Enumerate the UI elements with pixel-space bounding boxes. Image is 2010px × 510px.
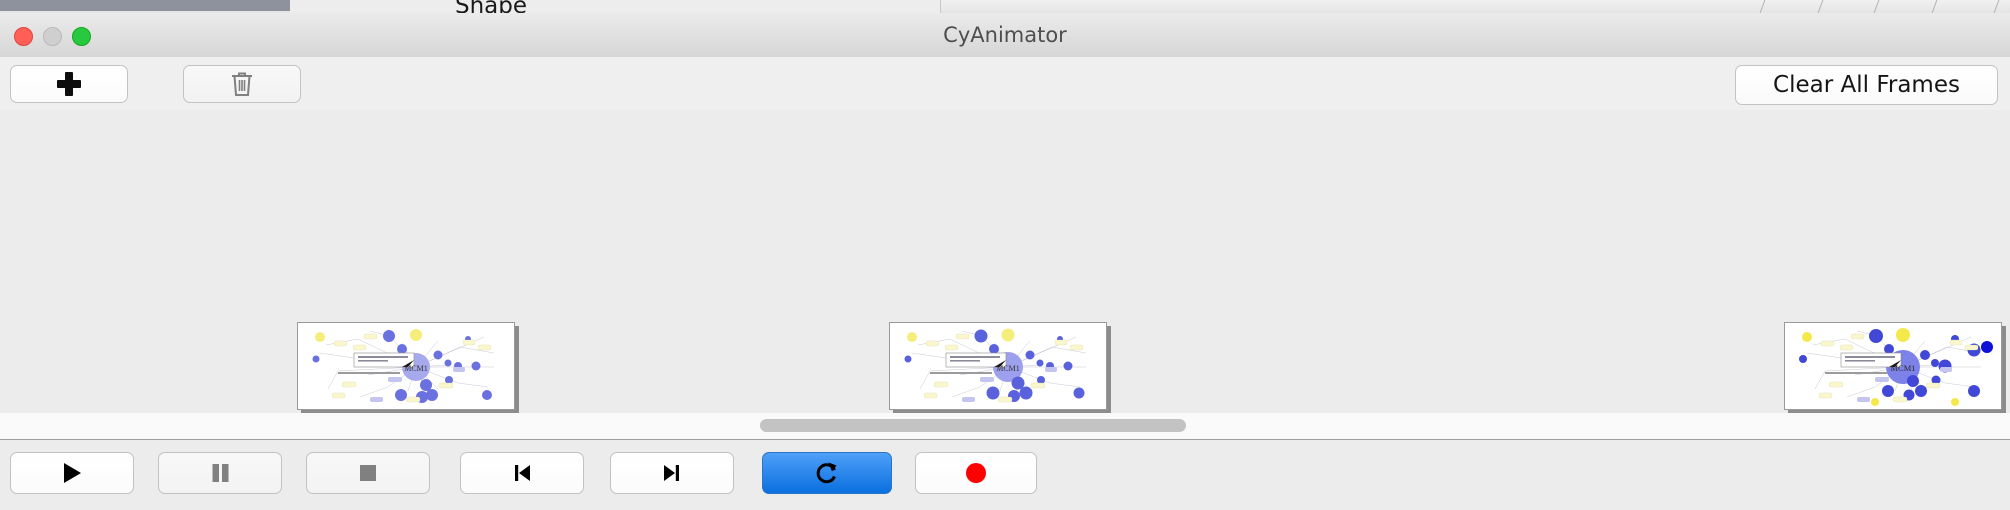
player-bar: Animation Speed: <box>0 440 2010 510</box>
background-tick <box>1874 0 1880 13</box>
frame-thumbnail-3[interactable]: MCM1 <box>1784 322 2002 410</box>
background-tick <box>1932 0 1938 13</box>
background-window-strip: Shape <box>0 0 2010 14</box>
thumbnail-center-label: MCM1 <box>996 364 1020 373</box>
frame-thumbnail-2[interactable]: MCM1 <box>889 322 1107 410</box>
scrollbar-thumb[interactable] <box>760 419 1186 432</box>
timeline-scrollbar[interactable] <box>0 413 2010 440</box>
play-button[interactable] <box>10 452 134 494</box>
timeline-panel[interactable]: MCM1 <box>0 110 2010 414</box>
loop-button[interactable] <box>762 452 892 494</box>
skip-to-end-button[interactable] <box>610 452 734 494</box>
frame-thumbnail-1[interactable]: MCM1 <box>297 322 515 410</box>
thumbnail-center-label: MCM1 <box>404 364 428 373</box>
background-cell <box>640 0 941 13</box>
background-tick <box>1818 0 1824 13</box>
network-graph-thumbnail: MCM1 <box>298 323 514 409</box>
background-tick <box>1760 0 1766 13</box>
network-graph-thumbnail: MCM1 <box>1785 323 2001 409</box>
skip-to-start-button[interactable] <box>460 452 584 494</box>
clear-all-frames-button[interactable]: Clear All Frames <box>1735 65 1998 105</box>
plus-icon <box>56 71 82 97</box>
record-button[interactable] <box>915 452 1037 494</box>
trash-icon <box>230 70 254 98</box>
background-tick <box>1994 0 2000 13</box>
record-icon <box>963 460 989 486</box>
background-titlebar-dark <box>0 0 290 11</box>
pause-button[interactable] <box>158 452 282 494</box>
background-cell <box>290 0 396 13</box>
network-graph-thumbnail: MCM1 <box>890 323 1106 409</box>
cyanimator-window: Shape CyAnimator Clear All Frame <box>0 0 2010 510</box>
stop-icon <box>355 460 381 486</box>
window-title: CyAnimator <box>0 13 2010 57</box>
background-peek-label: Shape <box>455 0 527 14</box>
skip-forward-icon <box>659 460 685 486</box>
delete-frame-button[interactable] <box>183 65 301 103</box>
title-bar[interactable]: CyAnimator <box>0 13 2010 58</box>
loop-icon <box>812 458 842 488</box>
toolbar: Clear All Frames <box>0 57 2010 111</box>
stop-button[interactable] <box>306 452 430 494</box>
add-frame-button[interactable] <box>10 65 128 103</box>
pause-icon <box>207 460 233 486</box>
background-cell <box>525 0 641 13</box>
skip-back-icon <box>509 460 535 486</box>
clear-all-frames-label: Clear All Frames <box>1773 72 1960 98</box>
play-icon <box>59 460 85 486</box>
thumbnail-center-label: MCM1 <box>1890 363 1915 373</box>
